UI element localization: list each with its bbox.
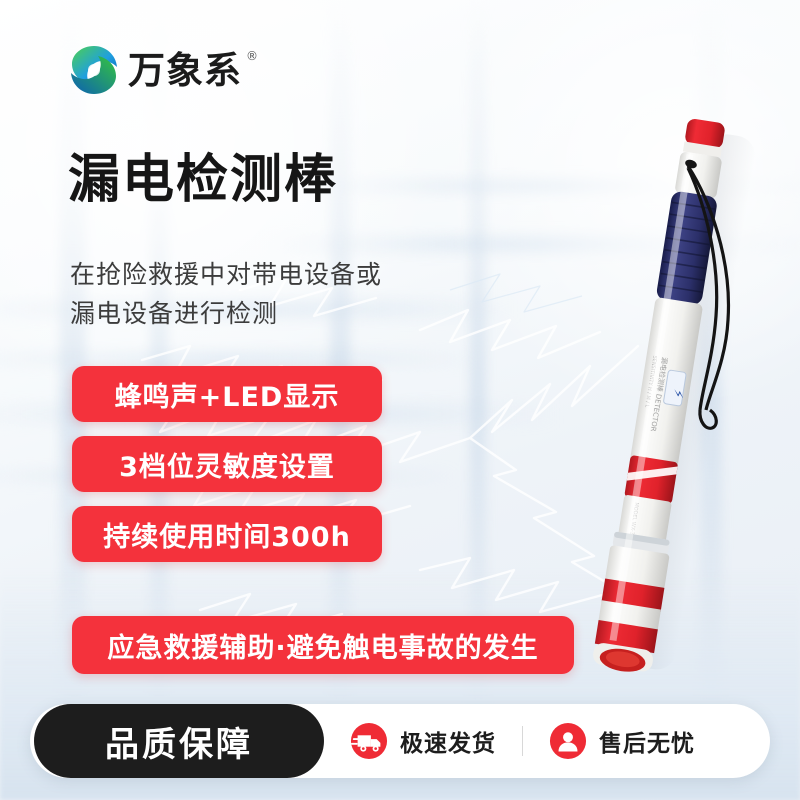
subtitle-line-1: 在抢险救援中对带电设备或 bbox=[70, 256, 382, 295]
brand-name: 万象系 bbox=[128, 49, 242, 92]
service-label-aftersales: 售后无忧 bbox=[599, 724, 695, 758]
quality-badge: 品质保障 bbox=[34, 704, 324, 778]
feature-pill-3: 持续使用时间300h bbox=[72, 506, 382, 562]
service-label-shipping: 极速发货 bbox=[400, 724, 496, 758]
brand-name-text: 万象系 ® bbox=[128, 52, 242, 89]
service-item-shipping: 极速发货 bbox=[324, 704, 522, 778]
registered-mark: ® bbox=[246, 50, 259, 62]
customer-service-icon bbox=[549, 722, 587, 760]
subtitle-line-2: 漏电设备进行检测 bbox=[70, 295, 382, 334]
feature-pill-2: 3档位灵敏度设置 bbox=[72, 436, 382, 492]
page-subtitle: 在抢险救援中对带电设备或 漏电设备进行检测 bbox=[70, 256, 382, 334]
brand-logo: 万象系 ® bbox=[68, 42, 242, 98]
page-title: 漏电检测棒 bbox=[68, 152, 338, 209]
product-poster: 万象系 ® 漏电检测棒 在抢险救援中对带电设备或 漏电设备进行检测 蜂鸣声+LE… bbox=[0, 0, 800, 800]
feature-pill-1: 蜂鸣声+LED显示 bbox=[72, 366, 382, 422]
swirl-globe-logo-icon bbox=[68, 44, 120, 96]
service-item-aftersales: 售后无忧 bbox=[523, 704, 721, 778]
product-image-leakage-detector-wand: 漏电检测棒 DETECTOR SENSITIVITY H / M / L ⚡ M… bbox=[560, 110, 800, 690]
tagline-pill: 应急救援辅助·避免触电事故的发生 bbox=[72, 616, 574, 674]
bottom-service-bar: 品质保障 极速发货 售后无忧 bbox=[30, 704, 770, 778]
delivery-truck-icon bbox=[350, 722, 388, 760]
